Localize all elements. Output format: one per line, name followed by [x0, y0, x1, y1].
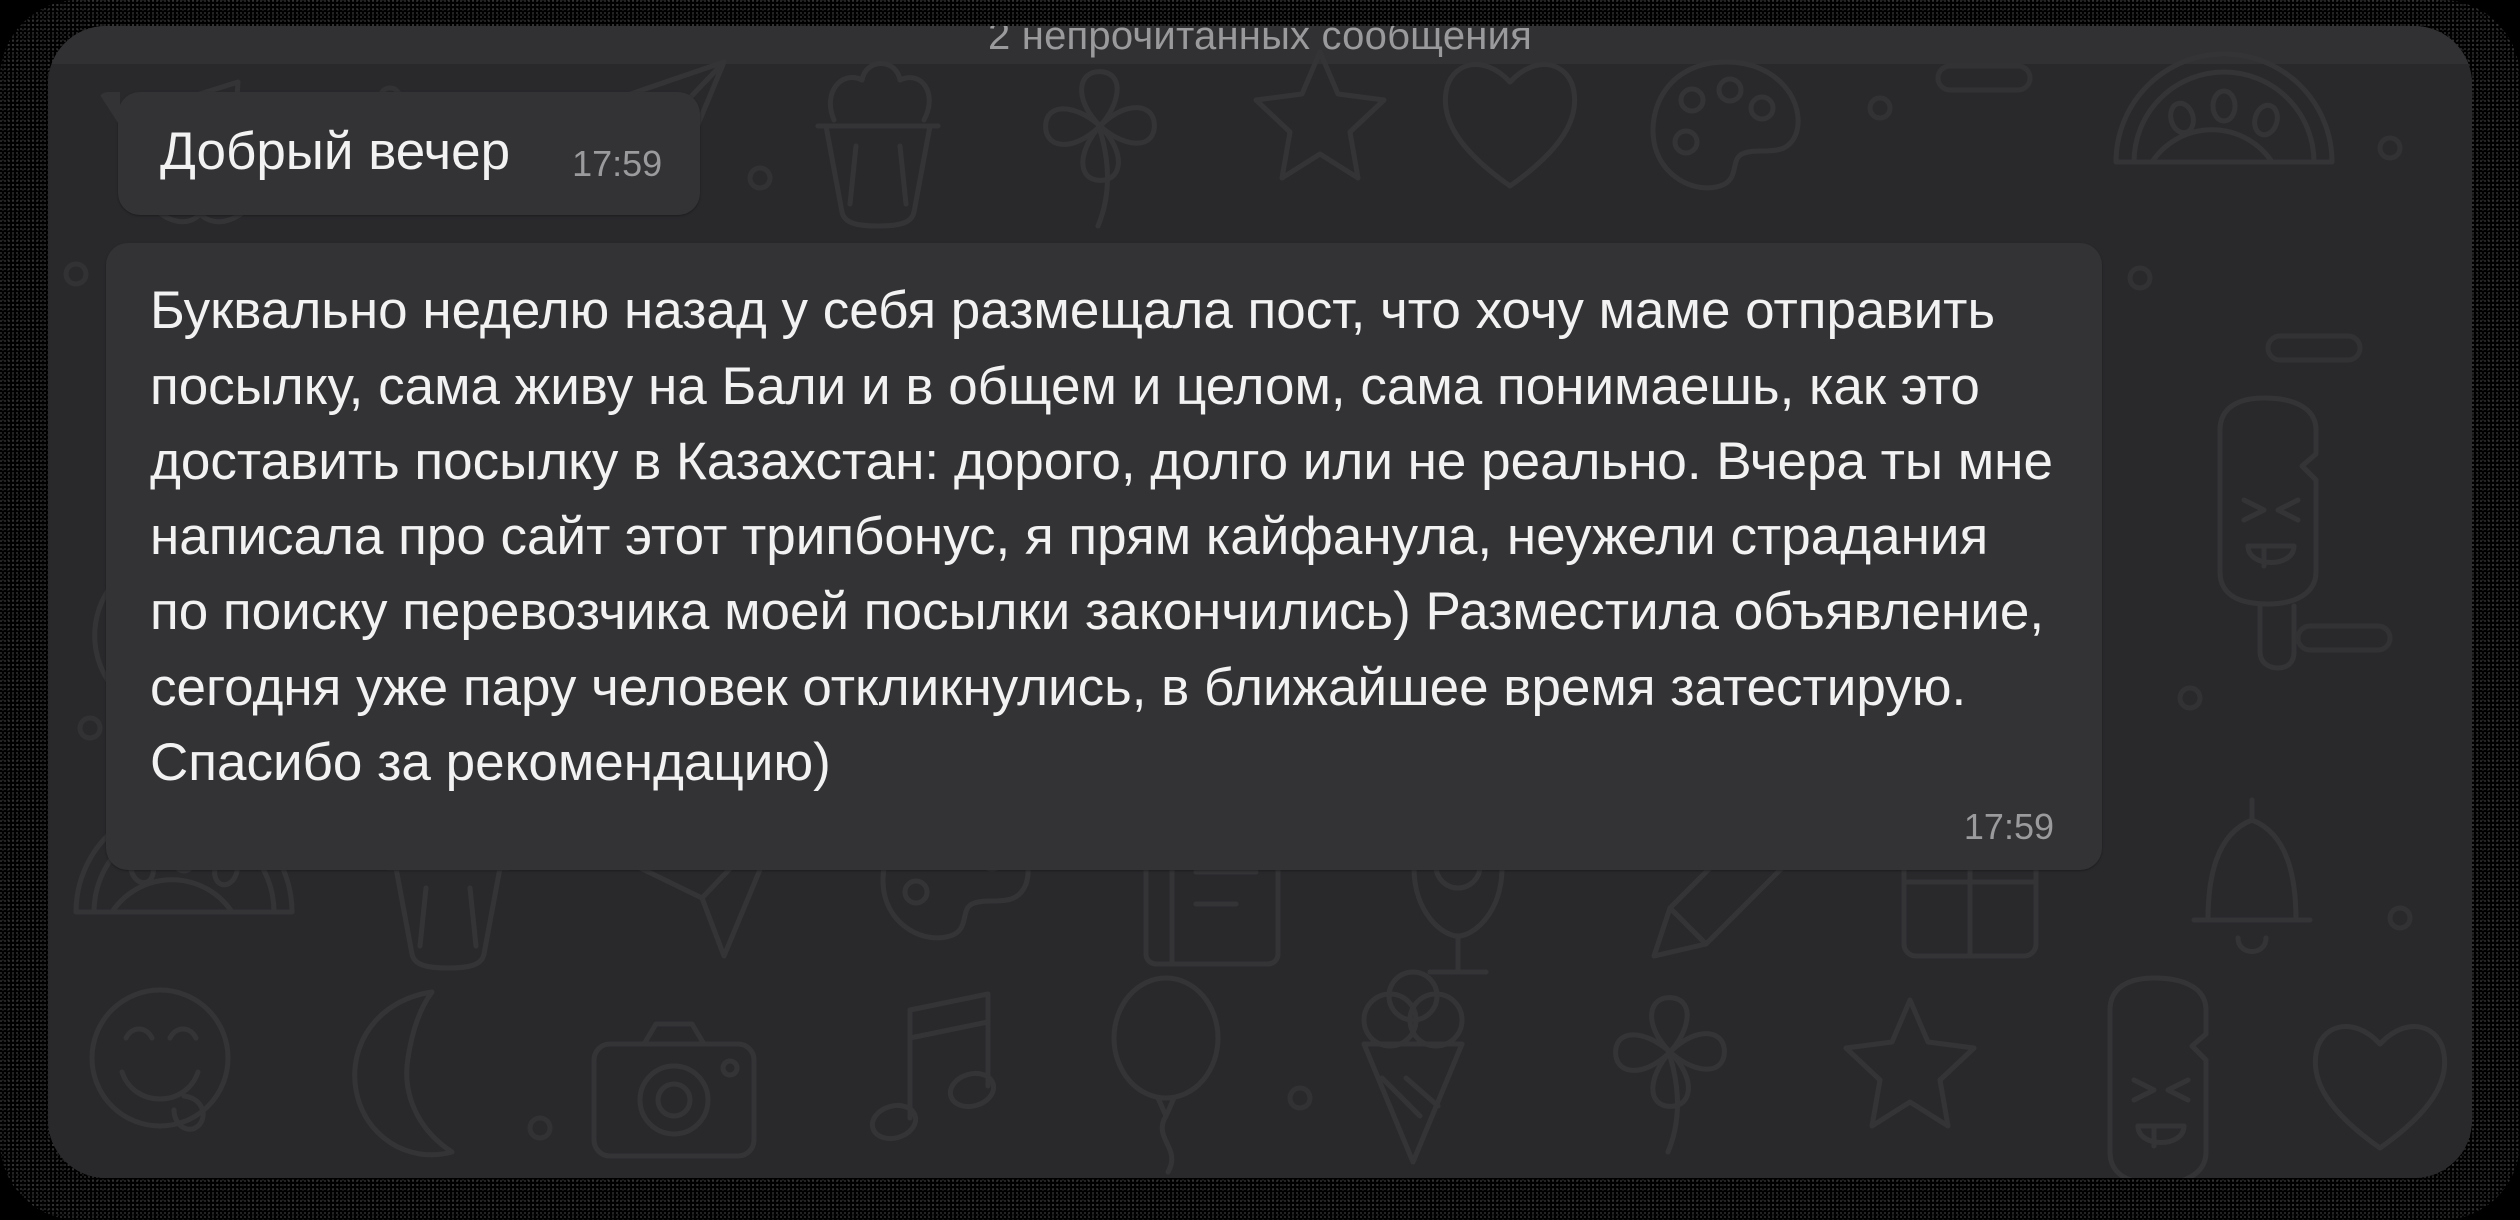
message-list[interactable]: Добрый вечер 17:59 Буквально неделю наза…: [106, 92, 2416, 870]
chat-screen: 2 непрочитанных сообщения Добрый вечер 1…: [48, 26, 2472, 1178]
message-row: Добрый вечер 17:59: [106, 92, 2416, 215]
message-text: Буквально неделю назад у себя размещала …: [150, 273, 2058, 800]
unread-divider-label: 2 непрочитанных сообщения: [988, 26, 1532, 59]
message-timestamp: 17:59: [572, 143, 662, 189]
message-row: Буквально неделю назад у себя размещала …: [106, 215, 2416, 870]
device-frame: 2 непрочитанных сообщения Добрый вечер 1…: [0, 0, 2520, 1220]
message-timestamp: 17:59: [1964, 806, 2058, 848]
message-text: Добрый вечер: [160, 114, 572, 189]
bubble-content: Добрый вечер 17:59: [118, 92, 700, 215]
bubble-content: Буквально неделю назад у себя размещала …: [106, 243, 2102, 870]
message-bubble-incoming[interactable]: Добрый вечер 17:59: [118, 92, 700, 215]
unread-messages-divider: 2 непрочитанных сообщения: [48, 26, 2472, 64]
message-bubble-incoming[interactable]: Буквально неделю назад у себя размещала …: [106, 243, 2102, 870]
